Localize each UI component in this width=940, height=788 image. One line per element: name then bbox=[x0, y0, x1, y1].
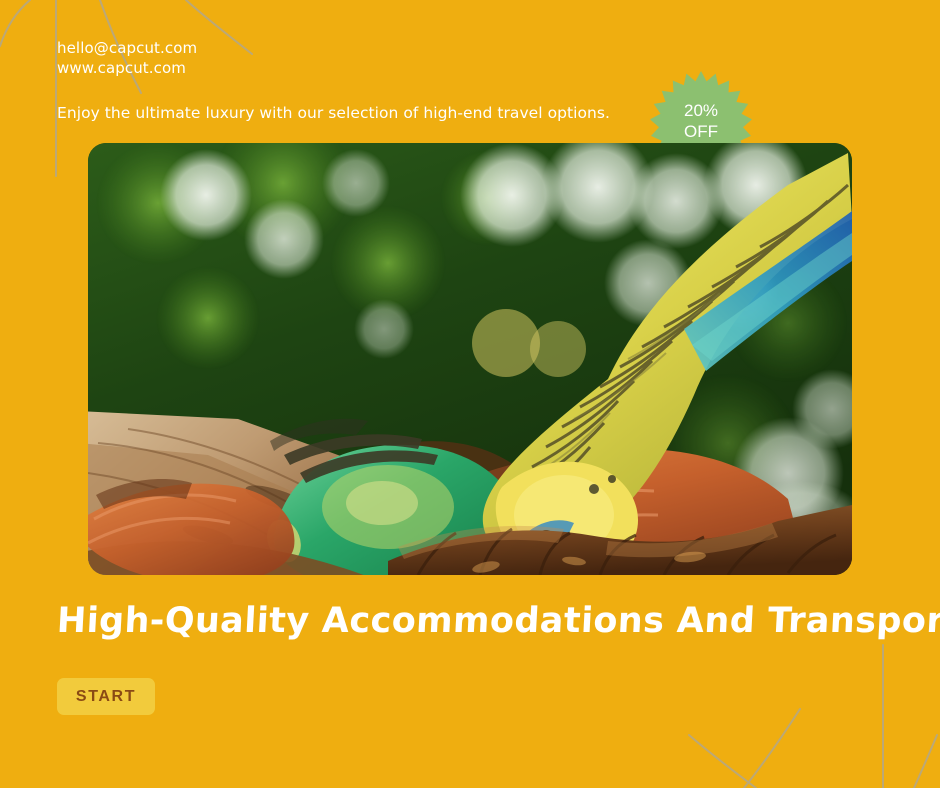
tagline-text: Enjoy the ultimate luxury with our selec… bbox=[57, 103, 610, 123]
deco-arc-topleft bbox=[0, 0, 30, 46]
contact-block: hello@capcut.com www.capcut.com bbox=[57, 38, 197, 78]
page-title: High-Quality Accommodations And Transpor… bbox=[56, 598, 918, 644]
start-button[interactable]: START bbox=[57, 678, 155, 715]
contact-email[interactable]: hello@capcut.com bbox=[57, 38, 197, 58]
contact-website[interactable]: www.capcut.com bbox=[57, 58, 197, 78]
deco-diag-bottom-b bbox=[689, 735, 756, 788]
hero-photo bbox=[88, 143, 852, 575]
poster-canvas: hello@capcut.com www.capcut.com Enjoy th… bbox=[0, 0, 940, 788]
badge-discount: 20% bbox=[684, 100, 718, 121]
deco-diag-bottom-a bbox=[744, 709, 800, 788]
budgerigar-photo-illustration bbox=[88, 143, 852, 575]
badge-label: OFF bbox=[684, 121, 718, 142]
deco-diag-bottom-c bbox=[914, 735, 937, 788]
